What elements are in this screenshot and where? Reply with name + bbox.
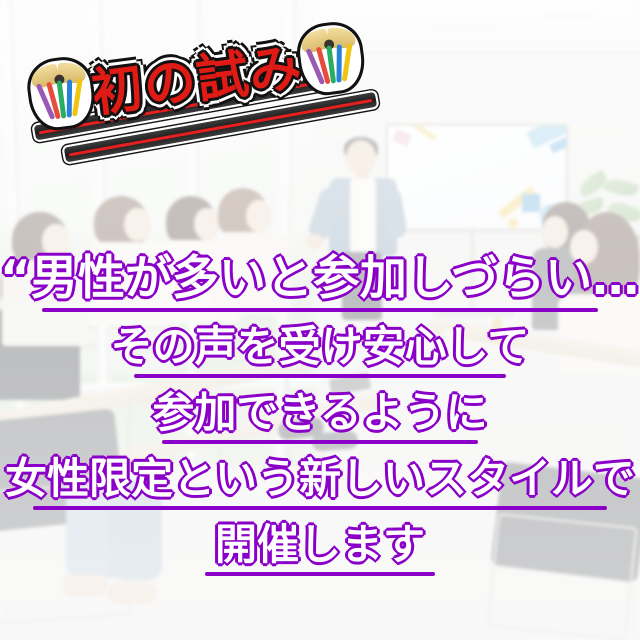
message-underline <box>162 440 478 444</box>
party-popper-icon <box>299 24 363 93</box>
message-line: 開催します <box>0 520 640 576</box>
message-underline <box>134 374 506 378</box>
message-line: 女性限定という新しいスタイルで <box>0 454 640 510</box>
message-underline <box>33 506 607 510</box>
message-block: “男性が多いと参加しづらい…” その声を受け安心して 参加できるように 女性限定… <box>0 252 640 576</box>
message-line: “男性が多いと参加しづらい…” <box>0 252 640 312</box>
message-line-text: 参加できるように <box>152 388 487 438</box>
poster-canvas: 初の試み “男性が多いと参加しづらい…” その声を受け安心して 参加できるように <box>0 0 640 640</box>
message-underline <box>42 308 598 312</box>
message-line-text: 女性限定という新しいスタイルで <box>5 454 635 504</box>
header-banner: 初の試み <box>0 0 640 180</box>
message-line-text: “男性が多いと参加しづらい…” <box>0 252 640 306</box>
message-line-text: 開催します <box>215 520 425 570</box>
message-underline <box>205 572 435 576</box>
message-line: 参加できるように <box>0 388 640 444</box>
message-line: その声を受け安心して <box>0 322 640 378</box>
message-line-text: その声を受け安心して <box>111 322 530 372</box>
party-popper-icon <box>29 59 93 128</box>
